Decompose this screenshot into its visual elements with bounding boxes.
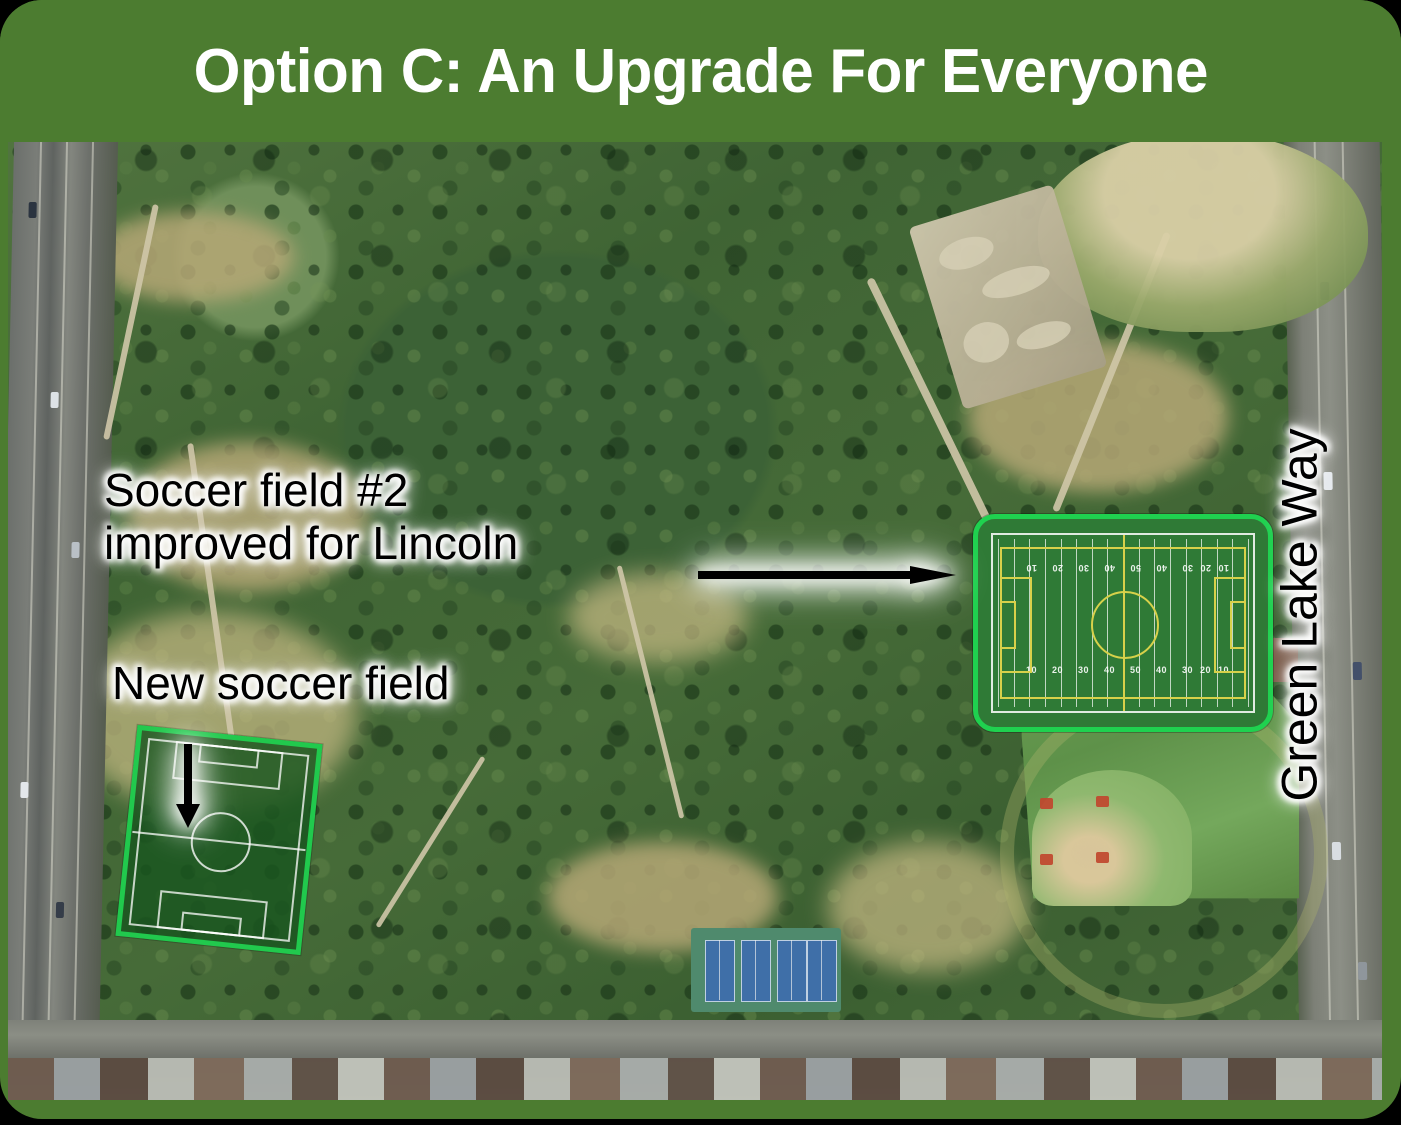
annotation-new-soccer-field: New soccer field [112, 657, 449, 710]
overlay-new-soccer-field[interactable] [115, 725, 322, 955]
aerial-map-image: 10 20 30 40 50 40 30 20 10 10 20 30 40 5… [8, 142, 1382, 1100]
poster-frame: Option C: An Upgrade For Everyone [0, 0, 1401, 1119]
annotation-soccer-field-2: Soccer field #2 improved for Lincoln [104, 464, 518, 571]
street-50th [8, 1020, 1382, 1058]
dry-grass-patch [94, 212, 294, 302]
annotation-line-1: New soccer field [112, 657, 449, 710]
dry-grass-patch [568, 572, 748, 662]
residential-block-south [8, 1058, 1382, 1100]
soccer-center-circle [1091, 591, 1159, 659]
down-arrow-icon [176, 744, 200, 828]
poster-root: Option C: An Upgrade For Everyone [0, 0, 1401, 1125]
page-title: Option C: An Upgrade For Everyone [193, 36, 1207, 107]
overlay-football-field[interactable]: 10 20 30 40 50 40 30 20 10 10 20 30 40 5… [973, 514, 1273, 732]
tennis-courts [691, 928, 841, 1012]
aerial-map: 10 20 30 40 50 40 30 20 10 10 20 30 40 5… [8, 142, 1382, 1100]
title-bar: Option C: An Upgrade For Everyone [0, 0, 1401, 142]
annotation-line-1: Soccer field #2 [104, 464, 518, 517]
right-arrow-icon [698, 566, 956, 584]
soccer-goal-area [1230, 601, 1246, 649]
label-green-lake-way: Green Lake Way [1270, 428, 1328, 801]
annotation-line-2: improved for Lincoln [104, 517, 518, 570]
soccer-goal-area [1000, 601, 1016, 649]
dry-grass-patch [828, 842, 1028, 972]
